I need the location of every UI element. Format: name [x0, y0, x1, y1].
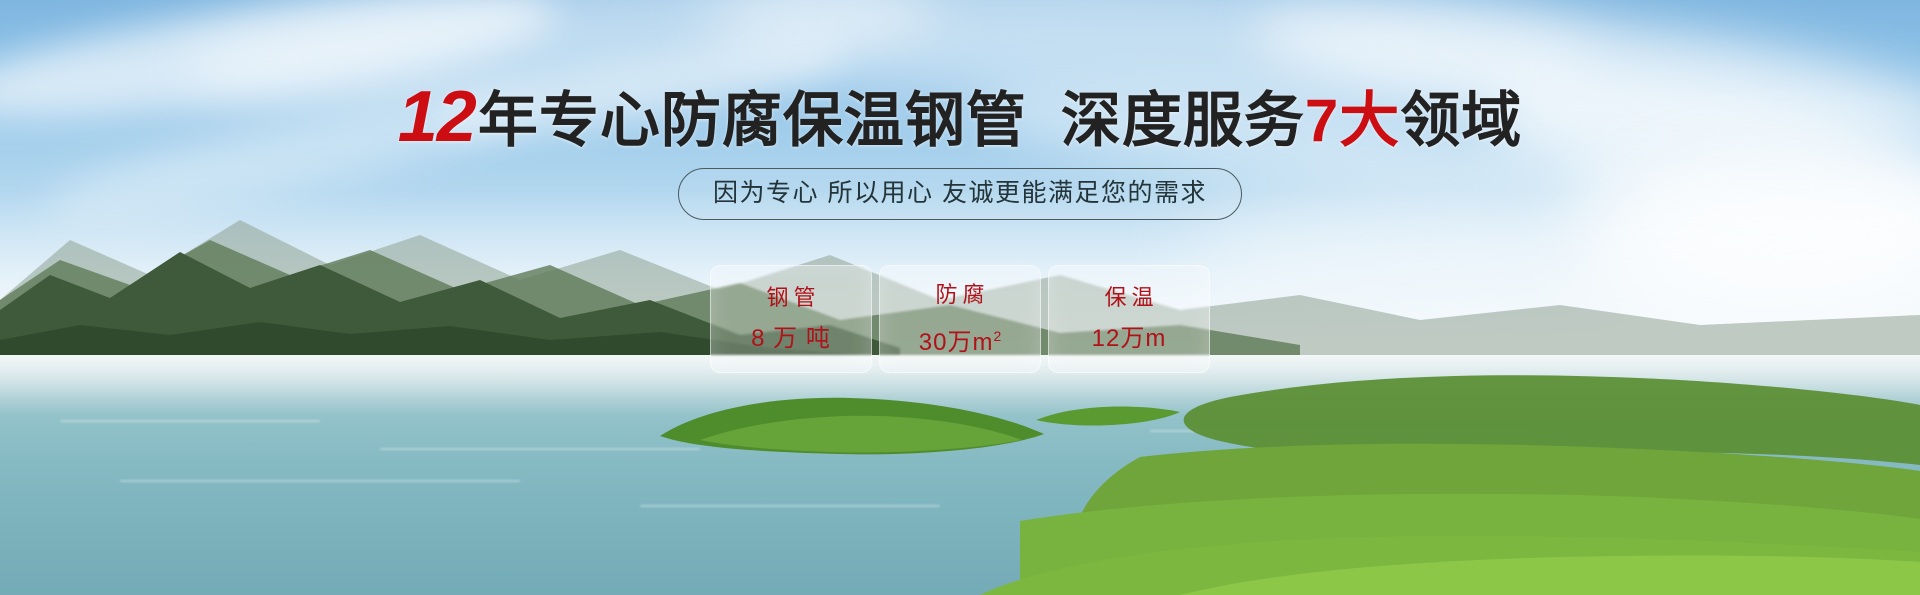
headline-part1: 年专心防腐保温钢管 — [478, 87, 1027, 154]
stat-card-value: 12万m — [1092, 325, 1167, 353]
stat-cards: 钢管 8 万 吨 防腐 30万m2 保温 12万m — [0, 265, 1920, 373]
headline-highlight: 7大 — [1305, 87, 1400, 154]
text-overlay: 12年专心防腐保温钢管深度服务7大领域 因为专心 所以用心 友诚更能满足您的需求… — [0, 0, 1920, 595]
stat-card-value-superscript: 2 — [993, 328, 1001, 344]
stat-card[interactable]: 保温 12万m — [1048, 265, 1210, 373]
stat-card-value-text: 30万m — [919, 329, 994, 356]
subtitle-pill: 因为专心 所以用心 友诚更能满足您的需求 — [678, 168, 1242, 220]
stat-card-title: 保温 — [1099, 285, 1158, 311]
stat-card-value-text: 12万m — [1092, 325, 1167, 352]
stat-card-title: 钢管 — [761, 285, 820, 311]
stat-card-value: 30万m2 — [919, 322, 1001, 357]
page-title: 12年专心防腐保温钢管深度服务7大领域 — [0, 82, 1920, 156]
stat-card-title: 防腐 — [930, 282, 989, 308]
headline-number: 12 — [398, 77, 478, 157]
subtitle-container: 因为专心 所以用心 友诚更能满足您的需求 — [0, 168, 1920, 220]
stat-card[interactable]: 防腐 30万m2 — [879, 265, 1041, 373]
headline-part3: 领域 — [1400, 87, 1522, 154]
hero-banner: 12年专心防腐保温钢管深度服务7大领域 因为专心 所以用心 友诚更能满足您的需求… — [0, 0, 1920, 595]
headline-part2: 深度服务 — [1061, 87, 1305, 154]
stat-card-value-text: 8 万 吨 — [751, 325, 831, 352]
stat-card-value: 8 万 吨 — [751, 325, 831, 353]
stat-card[interactable]: 钢管 8 万 吨 — [710, 265, 872, 373]
